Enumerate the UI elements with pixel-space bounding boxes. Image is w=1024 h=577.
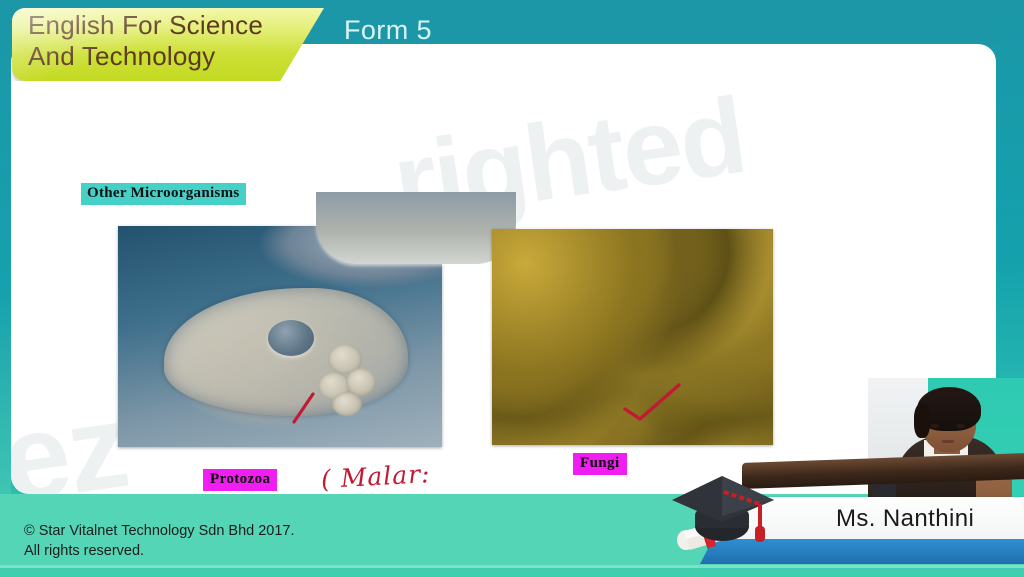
figure-image-fungi (492, 229, 773, 445)
presenter-mouth (942, 440, 954, 443)
course-title-banner: English For ScienceAnd Technology (12, 8, 324, 81)
course-title-text: English For ScienceAnd Technology (28, 10, 263, 72)
presenter-name-label: Ms. Nanthini (836, 505, 974, 533)
slide-canvas: righted my ez Other Microorganisms ( Mal… (11, 44, 996, 494)
figure-caption-fungi: Fungi (573, 453, 627, 475)
figure-caption-protozoa: Protozoa (203, 469, 277, 491)
course-title-line2: And Technology (28, 41, 215, 71)
protozoa-vacuole (332, 392, 362, 416)
course-title-line1: English For Science (28, 10, 263, 40)
presenter-webcam (868, 378, 1024, 511)
watermark-ez: ez (11, 376, 135, 494)
handwritten-note-malaria: ( Malar: (320, 459, 431, 494)
graduation-cap-logo (664, 452, 784, 557)
figure-image-protozoa (118, 226, 442, 447)
protozoa-secondary-cell (316, 192, 516, 264)
course-level-label: Form 5 (344, 15, 432, 46)
teal-left-bar (0, 0, 11, 577)
graduation-cap-icon (664, 452, 784, 557)
copyright-notice: © Star Vitalnet Technology Sdn Bhd 2017.… (24, 521, 295, 561)
protozoa-nucleus (268, 320, 314, 356)
presenter-eye-left (930, 424, 939, 428)
bottom-accent-line (0, 568, 1024, 577)
presenter-eye-right (956, 424, 965, 428)
presenter-hair-side (914, 404, 930, 438)
section-heading: Other Microorganisms (81, 183, 246, 205)
lecture-video-frame: righted my ez Other Microorganisms ( Mal… (0, 0, 1024, 577)
